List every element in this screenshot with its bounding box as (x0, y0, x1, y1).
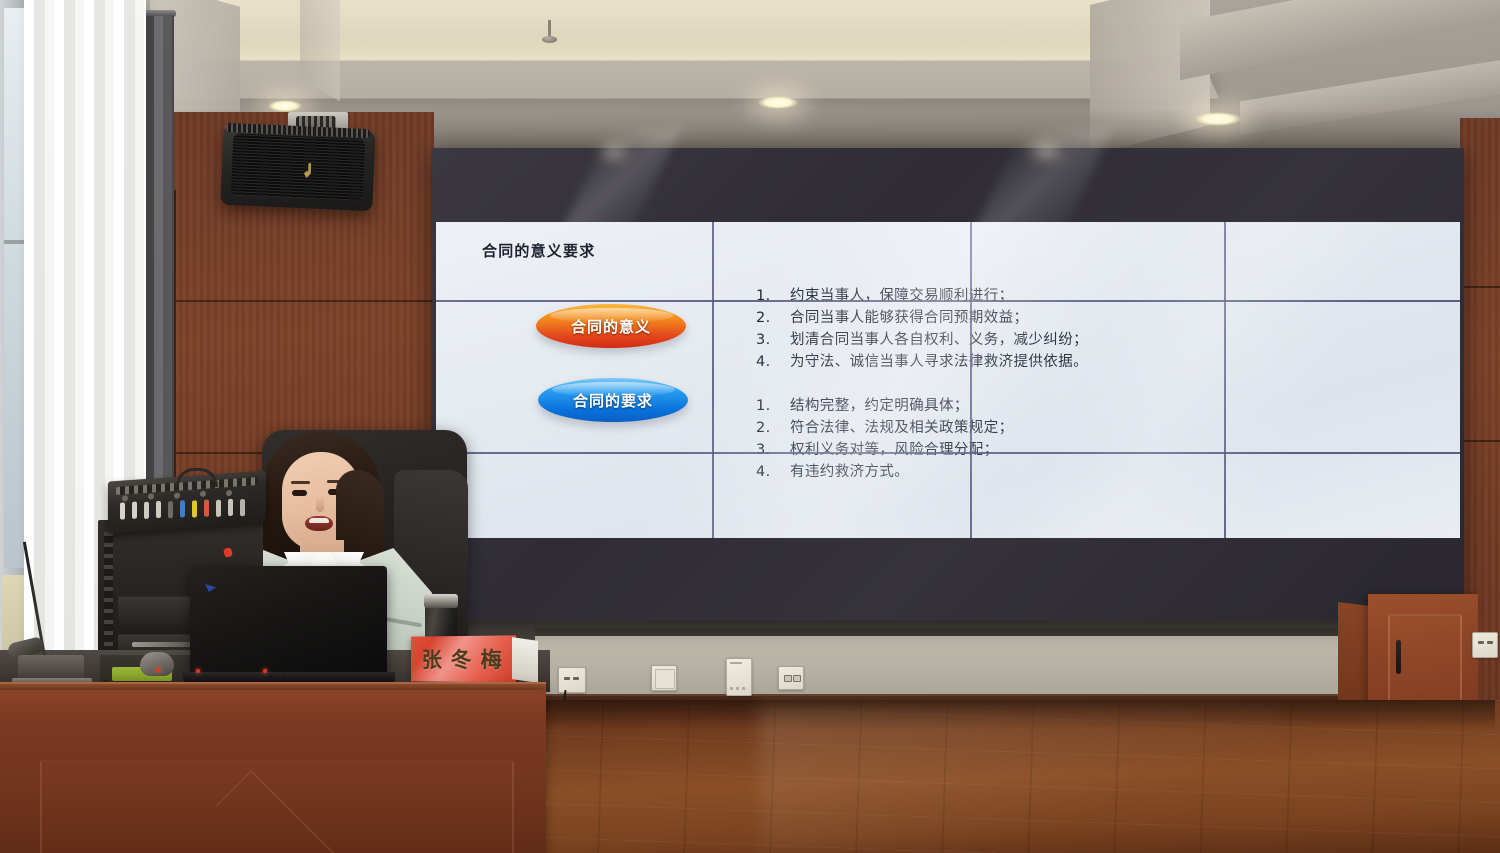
presenter-laptop[interactable] (190, 566, 387, 676)
list-number: 3. (756, 439, 770, 461)
presentation-slide[interactable]: 合同的意义要求 合同的意义 合同的要求 1. 约束当事人，保障交易顺利进行； 2… (436, 222, 1460, 538)
list-item: 4. 有违约救济方式。 (756, 461, 1014, 483)
list-text: 合同当事人能够获得合同预期效益； (790, 307, 1028, 329)
sprinkler-head-icon (542, 36, 557, 43)
video-wall-hotspot-1 (597, 144, 631, 160)
list-item: 3. 划清合同当事人各自权利、义务，减少纠纷； (756, 329, 1088, 351)
list-number: 2. (756, 307, 770, 329)
list-item: 2. 符合法律、法规及相关政策规定； (756, 417, 1014, 439)
presenter-eye-left (292, 490, 307, 496)
list-item: 1. 结构完整，约定明确具体； (756, 395, 1014, 417)
nameplate-char-2: 冬 (451, 644, 474, 674)
list-text: 结构完整，约定明确具体； (790, 395, 969, 417)
light-switch[interactable] (651, 665, 677, 691)
wood-seam-left-1 (172, 300, 434, 302)
list-contract-meaning: 1. 约束当事人，保障交易顺利进行； 2. 合同当事人能够获得合同预期效益； 3… (756, 285, 1088, 373)
panel-seam-horizontal-1 (436, 300, 1460, 302)
list-number: 1. (756, 285, 770, 307)
rack-tray[interactable] (132, 642, 196, 647)
thermos-lid[interactable] (424, 594, 458, 608)
list-number: 1. (756, 395, 770, 417)
video-wall-hotspot-2 (1026, 142, 1066, 160)
computer-mouse[interactable] (140, 652, 174, 676)
panel-seam-vertical-1 (712, 222, 714, 538)
pill-meaning-label: 合同的意义 (571, 316, 651, 337)
list-number: 4. (756, 351, 770, 373)
list-number: 4. (756, 461, 770, 483)
list-number: 2. (756, 417, 770, 439)
list-text: 约束当事人，保障交易顺利进行； (790, 285, 1014, 307)
list-number: 3. (756, 329, 770, 351)
power-outlet-left[interactable] (558, 667, 586, 693)
speaker-grille (231, 133, 366, 201)
ceiling-downlight-1 (268, 100, 302, 112)
presenter-brow-left (291, 481, 310, 484)
presenter-teeth (309, 518, 329, 523)
presenter-nose (316, 496, 324, 512)
ceiling-downlight-3 (1195, 112, 1241, 126)
conference-room-photo: 合同的意义要求 合同的意义 合同的要求 1. 约束当事人，保障交易顺利进行； 2… (0, 0, 1500, 853)
data-jack[interactable] (778, 666, 804, 690)
pill-requirement[interactable]: 合同的要求 (538, 378, 688, 422)
list-text: 权利义务对等，风险合理分配； (790, 439, 999, 461)
mouse-led-icon (156, 668, 160, 672)
list-contract-requirement: 1. 结构完整，约定明确具体； 2. 符合法律、法规及相关政策规定； 3. 权利… (756, 395, 1014, 483)
power-outlet-right[interactable] (1472, 632, 1498, 658)
nameplate: 张 冬 梅 (411, 635, 516, 682)
panel-seam-vertical-3 (1224, 222, 1226, 538)
list-item: 3. 权利义务对等，风险合理分配； (756, 439, 1014, 461)
nameplate-char-1: 张 (422, 644, 444, 674)
ceiling-downlight-2 (758, 96, 798, 109)
cabinet-handle[interactable] (1396, 640, 1401, 674)
list-item: 1. 约束当事人，保障交易顺利进行； (756, 285, 1088, 307)
list-item: 4. 为守法、诚信当事人寻求法律救济提供依据。 (756, 351, 1088, 373)
laptop-led-icon (196, 669, 200, 673)
video-wall[interactable]: 合同的意义要求 合同的意义 合同的要求 1. 约束当事人，保障交易顺利进行； 2… (432, 148, 1464, 620)
panel-seam-vertical-2 (970, 222, 972, 538)
rack-rail (104, 532, 113, 662)
list-text: 划清合同当事人各自权利、义务，减少纠纷； (790, 329, 1088, 351)
floor-reflection (760, 704, 1280, 853)
network-panel[interactable] (726, 658, 752, 696)
nameplate-text: 张 冬 梅 (411, 635, 516, 682)
wood-seam-right-1 (1460, 286, 1500, 288)
slide-title: 合同的意义要求 (482, 240, 595, 261)
wood-seam-right-2 (1460, 440, 1500, 442)
nameplate-back (512, 637, 538, 683)
pill-meaning[interactable]: 合同的意义 (536, 304, 686, 348)
list-item: 2. 合同当事人能够获得合同预期效益； (756, 307, 1088, 329)
list-text: 有违约救济方式。 (790, 461, 909, 483)
panel-seam-horizontal-2 (436, 452, 1460, 454)
list-text: 为守法、诚信当事人寻求法律救济提供依据。 (790, 351, 1088, 373)
laptop-led-icon-2 (263, 669, 267, 673)
list-text: 符合法律、法规及相关政策规定； (790, 417, 1014, 439)
pill-requirement-label: 合同的要求 (573, 390, 653, 411)
nameplate-char-3: 梅 (481, 644, 505, 675)
